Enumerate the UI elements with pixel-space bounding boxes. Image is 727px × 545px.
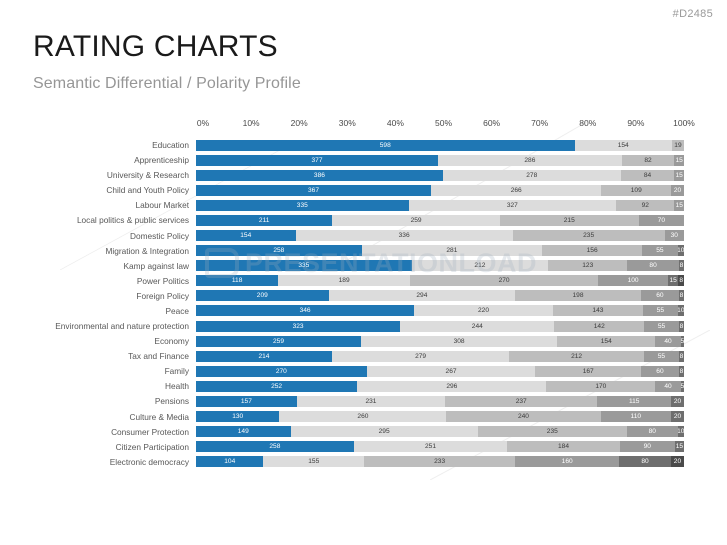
bar-track[interactable]: 335212123808: [196, 260, 684, 271]
bar-segment[interactable]: 377: [196, 155, 438, 166]
bar-segment[interactable]: 259: [332, 215, 499, 226]
bar-segment[interactable]: 286: [438, 155, 622, 166]
row-label: Foreign Policy: [0, 291, 196, 301]
bar-segment[interactable]: 170: [546, 381, 655, 392]
bar-track[interactable]: 3862788415: [196, 170, 684, 181]
bar-segment[interactable]: 60: [641, 366, 679, 377]
chart-x-axis: 0%10%20%30%40%50%60%70%80%90%100%: [203, 118, 684, 136]
bar-segment[interactable]: 189: [278, 275, 410, 286]
chart-row: Environmental and nature protection32324…: [0, 319, 727, 333]
bar-segment[interactable]: 212: [412, 260, 548, 271]
bar-track[interactable]: 2582811565510: [196, 245, 684, 256]
bar-segment[interactable]: 336: [296, 230, 513, 241]
bar-track[interactable]: 15433623530: [196, 230, 684, 241]
bar-segment[interactable]: 110: [601, 411, 672, 422]
bar-segment[interactable]: 40: [655, 336, 680, 347]
row-label: Kamp against law: [0, 261, 196, 271]
bar-segment[interactable]: 80: [619, 456, 671, 467]
bar-track[interactable]: 3462201435510: [196, 305, 684, 316]
bar-segment[interactable]: 598: [196, 140, 575, 151]
bar-segment[interactable]: 270: [410, 275, 598, 286]
bar-segment[interactable]: 15: [674, 170, 684, 181]
bar-segment[interactable]: 90: [620, 441, 675, 452]
bar-segment[interactable]: 82: [622, 155, 675, 166]
x-axis-tick: 70%: [531, 118, 548, 128]
row-label: Power Politics: [0, 276, 196, 286]
bar-track[interactable]: 36726610920: [196, 185, 684, 196]
bar-segment[interactable]: 235: [478, 426, 627, 437]
row-label: University & Research: [0, 170, 196, 180]
bar-segment[interactable]: 167: [535, 366, 641, 377]
x-axis-tick: 30%: [339, 118, 356, 128]
bar-segment[interactable]: 260: [279, 411, 446, 422]
bar-segment[interactable]: 115: [597, 396, 671, 407]
bar-track[interactable]: 13026024011020: [196, 411, 684, 422]
bar-segment[interactable]: 100: [598, 275, 668, 286]
bar-segment[interactable]: 15: [675, 441, 684, 452]
bar-segment[interactable]: 55: [644, 351, 679, 362]
row-label: Consumer Protection: [0, 427, 196, 437]
bar-segment[interactable]: 258: [196, 245, 362, 256]
bar-segment[interactable]: 10: [678, 426, 684, 437]
x-axis-tick: 60%: [483, 118, 500, 128]
row-label: Health: [0, 381, 196, 391]
bar-segment[interactable]: 20: [671, 396, 684, 407]
bar-segment[interactable]: 296: [357, 381, 546, 392]
row-label: Tax and Finance: [0, 351, 196, 361]
bar-segment[interactable]: 142: [554, 321, 644, 332]
bar-track[interactable]: 1041552331608020: [196, 456, 684, 467]
bar-segment[interactable]: 233: [364, 456, 515, 467]
row-label: Citizen Participation: [0, 442, 196, 452]
bar-segment[interactable]: 8: [679, 366, 684, 377]
bar-segment[interactable]: 237: [445, 396, 597, 407]
bar-segment[interactable]: 184: [507, 441, 620, 452]
row-label: Pensions: [0, 396, 196, 406]
chart-row: Kamp against law335212123808: [0, 259, 727, 273]
row-label: Labour Market: [0, 200, 196, 210]
x-axis-tick: 0%: [197, 118, 209, 128]
bar-segment[interactable]: 235: [513, 230, 665, 241]
bar-segment[interactable]: 92: [616, 200, 674, 211]
bar-track[interactable]: 214279212558: [196, 351, 684, 362]
bar-track[interactable]: 3353279215: [196, 200, 684, 211]
bar-segment[interactable]: 5: [681, 381, 684, 392]
bar-track[interactable]: 259308154405: [196, 336, 684, 347]
bar-segment[interactable]: 267: [367, 366, 536, 377]
x-axis-tick: 40%: [387, 118, 404, 128]
bar-segment[interactable]: 5: [681, 336, 684, 347]
bar-track[interactable]: 1492952358010: [196, 426, 684, 437]
chart-row: Electronic democracy1041552331608020: [0, 455, 727, 469]
bar-segment[interactable]: 212: [509, 351, 644, 362]
chart-row: Migration & Integration2582811565510: [0, 244, 727, 258]
chart-row: Child and Youth Policy36726610920: [0, 183, 727, 197]
bar-segment[interactable]: 279: [332, 351, 509, 362]
bar-segment[interactable]: 8: [679, 290, 684, 301]
bar-segment[interactable]: 281: [362, 245, 542, 256]
bar-segment[interactable]: 20: [671, 456, 684, 467]
row-label: Family: [0, 366, 196, 376]
bar-track[interactable]: 323244142558: [196, 321, 684, 332]
row-label: Apprenticeship: [0, 155, 196, 165]
chart-row: Domestic Policy15433623530: [0, 228, 727, 242]
bar-segment[interactable]: 367: [196, 185, 431, 196]
x-axis-tick: 90%: [627, 118, 644, 128]
bar-segment[interactable]: 294: [329, 290, 516, 301]
rating-chart: 0%10%20%30%40%50%60%70%80%90%100% Educat…: [0, 118, 727, 468]
x-axis-tick: 100%: [673, 118, 695, 128]
x-axis-tick: 20%: [291, 118, 308, 128]
bar-segment[interactable]: 240: [446, 411, 600, 422]
row-label: Economy: [0, 336, 196, 346]
row-label: Domestic Policy: [0, 231, 196, 241]
bar-segment[interactable]: 258: [196, 441, 354, 452]
bar-segment[interactable]: 335: [196, 200, 409, 211]
bar-segment[interactable]: 259: [196, 336, 361, 347]
bar-segment[interactable]: 8: [679, 260, 684, 271]
bar-segment[interactable]: 156: [542, 245, 642, 256]
chart-row: Citizen Participation2582511849015: [0, 440, 727, 454]
bar-segment[interactable]: 104: [196, 456, 263, 467]
bar-segment[interactable]: 55: [642, 245, 677, 256]
page-title: RATING CHARTS: [33, 30, 278, 64]
chart-row: Economy259308154405: [0, 334, 727, 348]
bar-segment[interactable]: 80: [627, 260, 679, 271]
chart-row: Local politics & public services21125921…: [0, 213, 727, 227]
bar-segment[interactable]: 118: [196, 275, 278, 286]
chart-row: Culture & Media13026024011020: [0, 409, 727, 423]
bar-segment[interactable]: 84: [621, 170, 675, 181]
bar-segment[interactable]: 80: [627, 426, 678, 437]
chart-row: Tax and Finance214279212558: [0, 349, 727, 363]
bar-segment[interactable]: 346: [196, 305, 414, 316]
bar-segment[interactable]: 160: [515, 456, 619, 467]
bar-segment[interactable]: 19: [672, 140, 684, 151]
document-code: #D2485: [673, 8, 713, 20]
x-axis-tick: 10%: [243, 118, 260, 128]
bar-segment[interactable]: 60: [641, 290, 679, 301]
bar-segment[interactable]: 327: [409, 200, 617, 211]
bar-segment[interactable]: 15: [668, 275, 678, 286]
bar-segment[interactable]: 266: [431, 185, 601, 196]
row-label: Peace: [0, 306, 196, 316]
bar-segment[interactable]: 30: [665, 230, 684, 241]
bar-segment[interactable]: 157: [196, 396, 297, 407]
bar-segment[interactable]: 386: [196, 170, 443, 181]
bar-segment[interactable]: 214: [196, 351, 332, 362]
chart-row: University & Research3862788415: [0, 168, 727, 182]
bar-segment[interactable]: 198: [515, 290, 641, 301]
chart-rows: Education59815419Apprenticeship377286821…: [0, 138, 727, 469]
bar-segment[interactable]: 55: [643, 305, 678, 316]
bar-segment[interactable]: 323: [196, 321, 400, 332]
bar-track[interactable]: 21125921570: [196, 215, 684, 226]
chart-row: Labour Market3353279215: [0, 198, 727, 212]
bar-track[interactable]: 209294198608: [196, 290, 684, 301]
bar-segment[interactable]: 20: [671, 411, 684, 422]
bar-segment[interactable]: 220: [414, 305, 553, 316]
bar-segment[interactable]: 154: [575, 140, 672, 151]
bar-segment[interactable]: 335: [196, 260, 412, 271]
bar-segment[interactable]: 155: [263, 456, 364, 467]
chart-row: Peace3462201435510: [0, 304, 727, 318]
row-label: Child and Youth Policy: [0, 185, 196, 195]
chart-row: Family270267167608: [0, 364, 727, 378]
bar-track[interactable]: 15723123711520: [196, 396, 684, 407]
bar-segment[interactable]: 15: [674, 200, 684, 211]
bar-segment[interactable]: 295: [291, 426, 478, 437]
page-subtitle: Semantic Differential / Polarity Profile: [33, 74, 301, 94]
chart-row: Apprenticeship3772868215: [0, 153, 727, 167]
bar-segment[interactable]: 123: [548, 260, 627, 271]
bar-segment[interactable]: 40: [655, 381, 681, 392]
bar-segment[interactable]: 270: [196, 366, 367, 377]
x-axis-tick: 50%: [435, 118, 452, 128]
bar-track[interactable]: 270267167608: [196, 366, 684, 377]
bar-segment[interactable]: 278: [443, 170, 621, 181]
bar-segment[interactable]: 154: [557, 336, 655, 347]
bar-segment[interactable]: 15: [674, 155, 684, 166]
row-label: Environmental and nature protection: [0, 321, 196, 331]
bar-track[interactable]: 252296170405: [196, 381, 684, 392]
bar-segment[interactable]: 8: [679, 321, 684, 332]
bar-segment[interactable]: 20: [671, 185, 684, 196]
bar-segment[interactable]: 308: [361, 336, 557, 347]
row-label: Culture & Media: [0, 412, 196, 422]
bar-track[interactable]: 2582511849015: [196, 441, 684, 452]
bar-segment[interactable]: 215: [500, 215, 639, 226]
bar-segment[interactable]: 209: [196, 290, 329, 301]
bar-segment[interactable]: 10: [678, 245, 684, 256]
row-label: Migration & Integration: [0, 246, 196, 256]
row-label: Education: [0, 140, 196, 150]
bar-segment[interactable]: 211: [196, 215, 332, 226]
bar-segment[interactable]: 70: [639, 215, 684, 226]
bar-segment[interactable]: 154: [196, 230, 296, 241]
bar-segment[interactable]: 251: [354, 441, 507, 452]
chart-row: Education59815419: [0, 138, 727, 152]
bar-segment[interactable]: 149: [196, 426, 291, 437]
bar-segment[interactable]: 10: [678, 305, 684, 316]
chart-row: Consumer Protection1492952358010: [0, 424, 727, 438]
bar-segment[interactable]: 109: [601, 185, 671, 196]
bar-track[interactable]: 3772868215: [196, 155, 684, 166]
bar-segment[interactable]: 143: [553, 305, 643, 316]
bar-segment[interactable]: 8: [679, 351, 684, 362]
chart-row: Health252296170405: [0, 379, 727, 393]
x-axis-tick: 80%: [579, 118, 596, 128]
bar-segment[interactable]: 244: [400, 321, 554, 332]
row-label: Electronic democracy: [0, 457, 196, 467]
chart-row: Pensions15723123711520: [0, 394, 727, 408]
bar-segment[interactable]: 55: [644, 321, 679, 332]
bar-segment[interactable]: 130: [196, 411, 279, 422]
chart-row: Power Politics118189270100158: [0, 274, 727, 288]
slide-canvas: #D2485 RATING CHARTS Semantic Differenti…: [0, 0, 727, 545]
bar-segment[interactable]: 252: [196, 381, 357, 392]
bar-segment[interactable]: 8: [678, 275, 684, 286]
bar-track[interactable]: 118189270100158: [196, 275, 684, 286]
row-label: Local politics & public services: [0, 215, 196, 225]
bar-track[interactable]: 59815419: [196, 140, 684, 151]
bar-segment[interactable]: 231: [297, 396, 445, 407]
chart-row: Foreign Policy209294198608: [0, 289, 727, 303]
